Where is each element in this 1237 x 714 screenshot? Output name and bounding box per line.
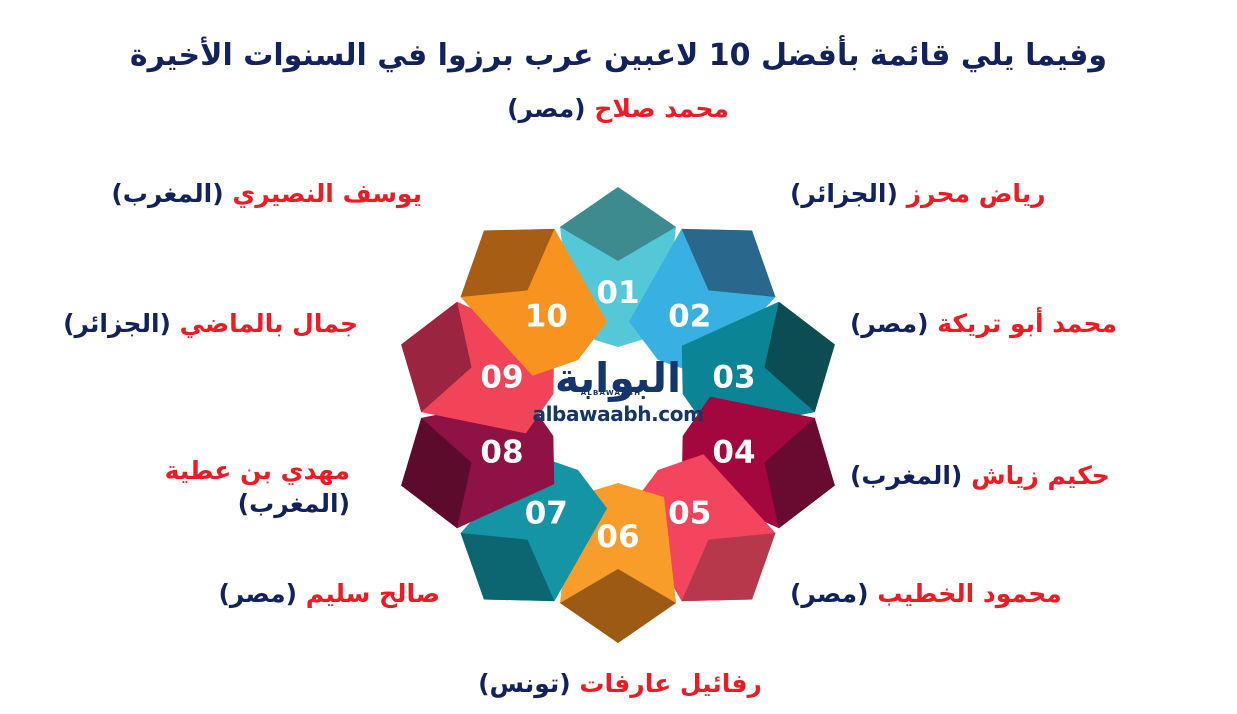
label-player-01: محمد صلاح (مصر) (418, 93, 818, 126)
petal-number-01: 01 (596, 275, 639, 311)
petal-number-10: 10 (525, 298, 568, 334)
player-country-09: (الجزائر) (63, 309, 171, 338)
label-player-04: حكيم زياش (المغرب) (850, 460, 1170, 493)
player-country-02: (الجزائر) (790, 179, 898, 208)
player-name-08: مهدي بن عطية (165, 456, 350, 485)
infographic-page: وفيما يلي قائمة بأفضل 10 لاعبين عرب برزو… (0, 0, 1237, 714)
petal-number-07: 07 (525, 496, 568, 532)
label-player-09: جمال بالماضي (الجزائر) (38, 308, 358, 341)
label-player-07: صالح سليم (مصر) (160, 578, 440, 611)
label-player-06: رفائيل عارفات (تونس) (430, 668, 810, 701)
player-name-04: حكيم زياش (971, 461, 1110, 490)
logo-domain-text: albawaabh.com (508, 402, 728, 426)
label-player-05: محمود الخطيب (مصر) (790, 578, 1110, 611)
brand-logo: البوابة ALBAWAABH albawaabh.com (508, 352, 728, 464)
player-country-06: (تونس) (478, 669, 571, 698)
player-name-09: جمال بالماضي (180, 309, 358, 338)
player-country-07: (مصر) (219, 579, 298, 608)
player-name-06: رفائيل عارفات (579, 669, 762, 698)
player-country-08: (المغرب) (238, 489, 350, 518)
player-country-05: (مصر) (790, 579, 869, 608)
player-country-04: (المغرب) (850, 461, 962, 490)
label-player-02: رياض محرز (الجزائر) (790, 178, 1070, 211)
player-name-02: رياض محرز (907, 179, 1046, 208)
player-country-10: (المغرب) (111, 179, 223, 208)
player-country-01: (مصر) (507, 94, 586, 123)
label-player-10: يوسف النصيري (المغرب) (62, 178, 422, 211)
player-name-07: صالح سليم (306, 579, 440, 608)
player-country-03: (مصر) (850, 309, 929, 338)
petal-number-02: 02 (668, 298, 711, 334)
logo-latin-text: ALBAWAABH (508, 389, 714, 397)
page-title: وفيما يلي قائمة بأفضل 10 لاعبين عرب برزو… (0, 36, 1237, 77)
petal-number-05: 05 (668, 496, 711, 532)
player-name-01: محمد صلاح (594, 94, 729, 123)
player-name-03: محمد أبو تريكة (937, 309, 1117, 338)
player-name-10: يوسف النصيري (232, 179, 422, 208)
player-name-05: محمود الخطيب (877, 579, 1061, 608)
petal-number-06: 06 (596, 519, 639, 555)
label-player-08: مهدي بن عطية (المغرب) (110, 455, 350, 520)
label-player-03: محمد أبو تريكة (مصر) (850, 308, 1170, 341)
